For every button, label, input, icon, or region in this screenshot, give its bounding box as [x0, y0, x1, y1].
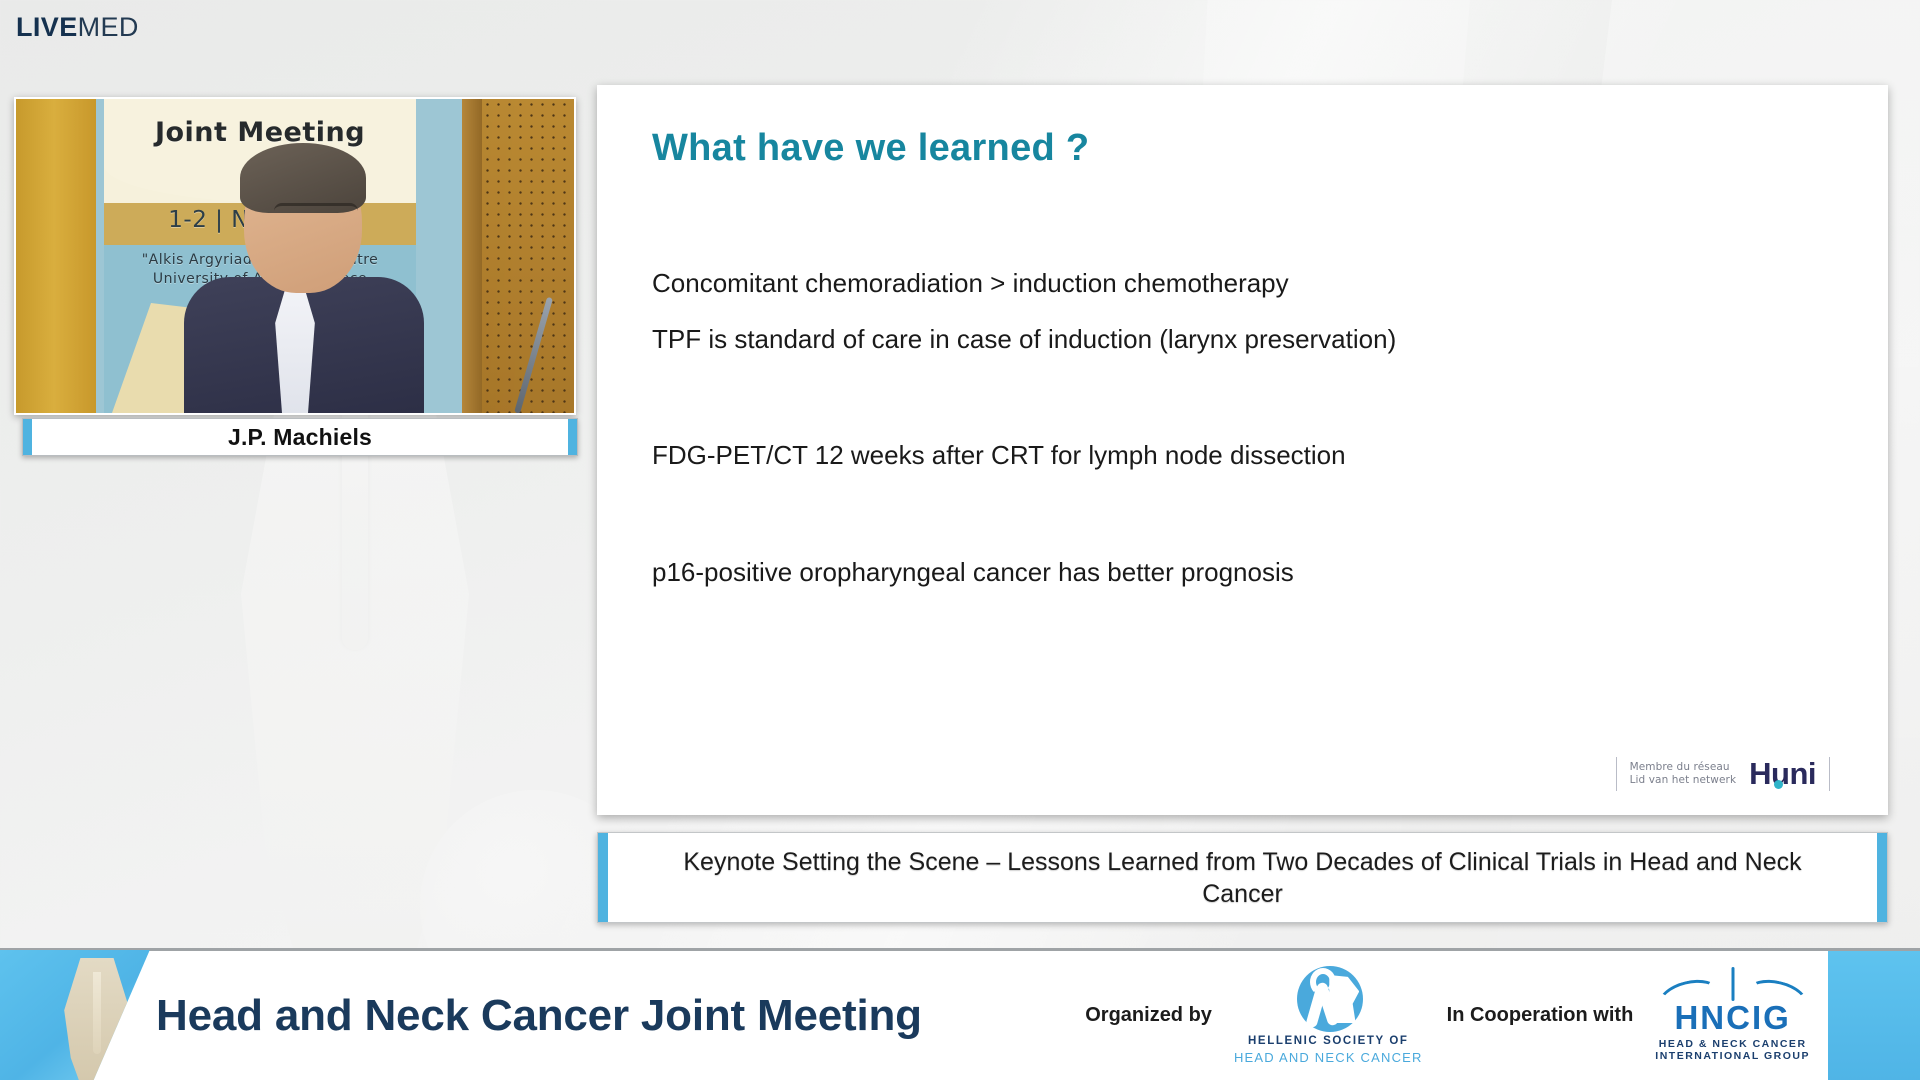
in-cooperation-with-label: In Cooperation with	[1447, 1004, 1634, 1027]
divider	[1616, 757, 1617, 791]
hellenic-society-line1: HELLENIC SOCIETY OF	[1248, 1035, 1409, 1047]
speaker-name-label: J.P. Machiels	[228, 424, 372, 451]
cooperation-credit: In Cooperation with HNCIG HEAD & NECK CA…	[1447, 969, 1810, 1062]
hellenic-society-logo: HELLENIC SOCIETY OF HEAD AND NECK CANCER	[1234, 966, 1423, 1065]
hncig-swoosh-icon	[1658, 969, 1808, 1005]
slide-title: What have we learned ?	[652, 127, 1089, 170]
video-frame: Joint Meeting 1-2 | NOV 2024 "Alkis Argy…	[16, 99, 574, 413]
hncig-line2: INTERNATIONAL GROUP	[1655, 1050, 1810, 1062]
session-title-text: Keynote Setting the Scene – Lessons Lear…	[643, 846, 1843, 910]
divider	[1829, 757, 1830, 791]
huni-wordmark: Huni	[1749, 756, 1816, 792]
huni-line-fr: Membre du réseau	[1630, 761, 1737, 774]
swoosh-stem	[1731, 967, 1734, 1001]
hellenic-society-line2: HEAD AND NECK CANCER	[1234, 1050, 1423, 1065]
logo-text-live: LIVE	[16, 12, 78, 42]
hellenic-society-mark-icon	[1291, 966, 1365, 1032]
awareness-ribbon-icon	[1307, 970, 1337, 1032]
huni-network-text: Membre du réseau Lid van het netwerk	[1630, 761, 1737, 787]
livemed-logo[interactable]: LIVEMED	[16, 14, 139, 41]
footer-figurine-nose	[93, 972, 101, 1054]
footer-figurine-icon	[56, 958, 138, 1080]
speaker-video-player[interactable]: Joint Meeting 1-2 | NOV 2024 "Alkis Argy…	[14, 97, 576, 415]
slide-bullet: p16-positive oropharyngeal cancer has be…	[652, 556, 1846, 589]
logo-text-med: MED	[78, 12, 139, 42]
slide-bullet: FDG-PET/CT 12 weeks after CRT for lymph …	[652, 439, 1846, 472]
organized-by-label: Organized by	[1085, 1004, 1212, 1027]
event-footer-banner: Head and Neck Cancer Joint Meeting Organ…	[0, 948, 1920, 1080]
footer-blue-block	[1828, 951, 1920, 1080]
hncig-line1: HEAD & NECK CANCER	[1659, 1038, 1807, 1050]
ribbon-loop	[1310, 968, 1336, 996]
slide-body: Concomitant chemoradiation > induction c…	[652, 267, 1846, 588]
huni-network-logo: Membre du réseau Lid van het netwerk Hun…	[1616, 755, 1830, 793]
banner-title-text: Joint Meeting	[104, 117, 416, 148]
event-title: Head and Neck Cancer Joint Meeting	[156, 991, 922, 1041]
footer-credits: Organized by HELLENIC SOCIETY OF HEAD AN…	[1085, 966, 1920, 1065]
slide-bullet: TPF is standard of care in case of induc…	[652, 323, 1846, 356]
hncig-logo: HNCIG HEAD & NECK CANCER INTERNATIONAL G…	[1655, 969, 1810, 1062]
presentation-slide[interactable]: What have we learned ? Concomitant chemo…	[597, 85, 1888, 815]
slide-bullet: Concomitant chemoradiation > induction c…	[652, 267, 1846, 300]
huni-line-nl: Lid van het netwerk	[1630, 774, 1737, 787]
speaker-glasses	[274, 203, 358, 220]
session-title-bar: Keynote Setting the Scene – Lessons Lear…	[597, 832, 1888, 923]
speaker-name-plate: J.P. Machiels	[22, 418, 578, 456]
footer-figurine-artwork	[0, 950, 150, 1080]
organizer-credit: Organized by HELLENIC SOCIETY OF HEAD AN…	[1085, 966, 1422, 1065]
